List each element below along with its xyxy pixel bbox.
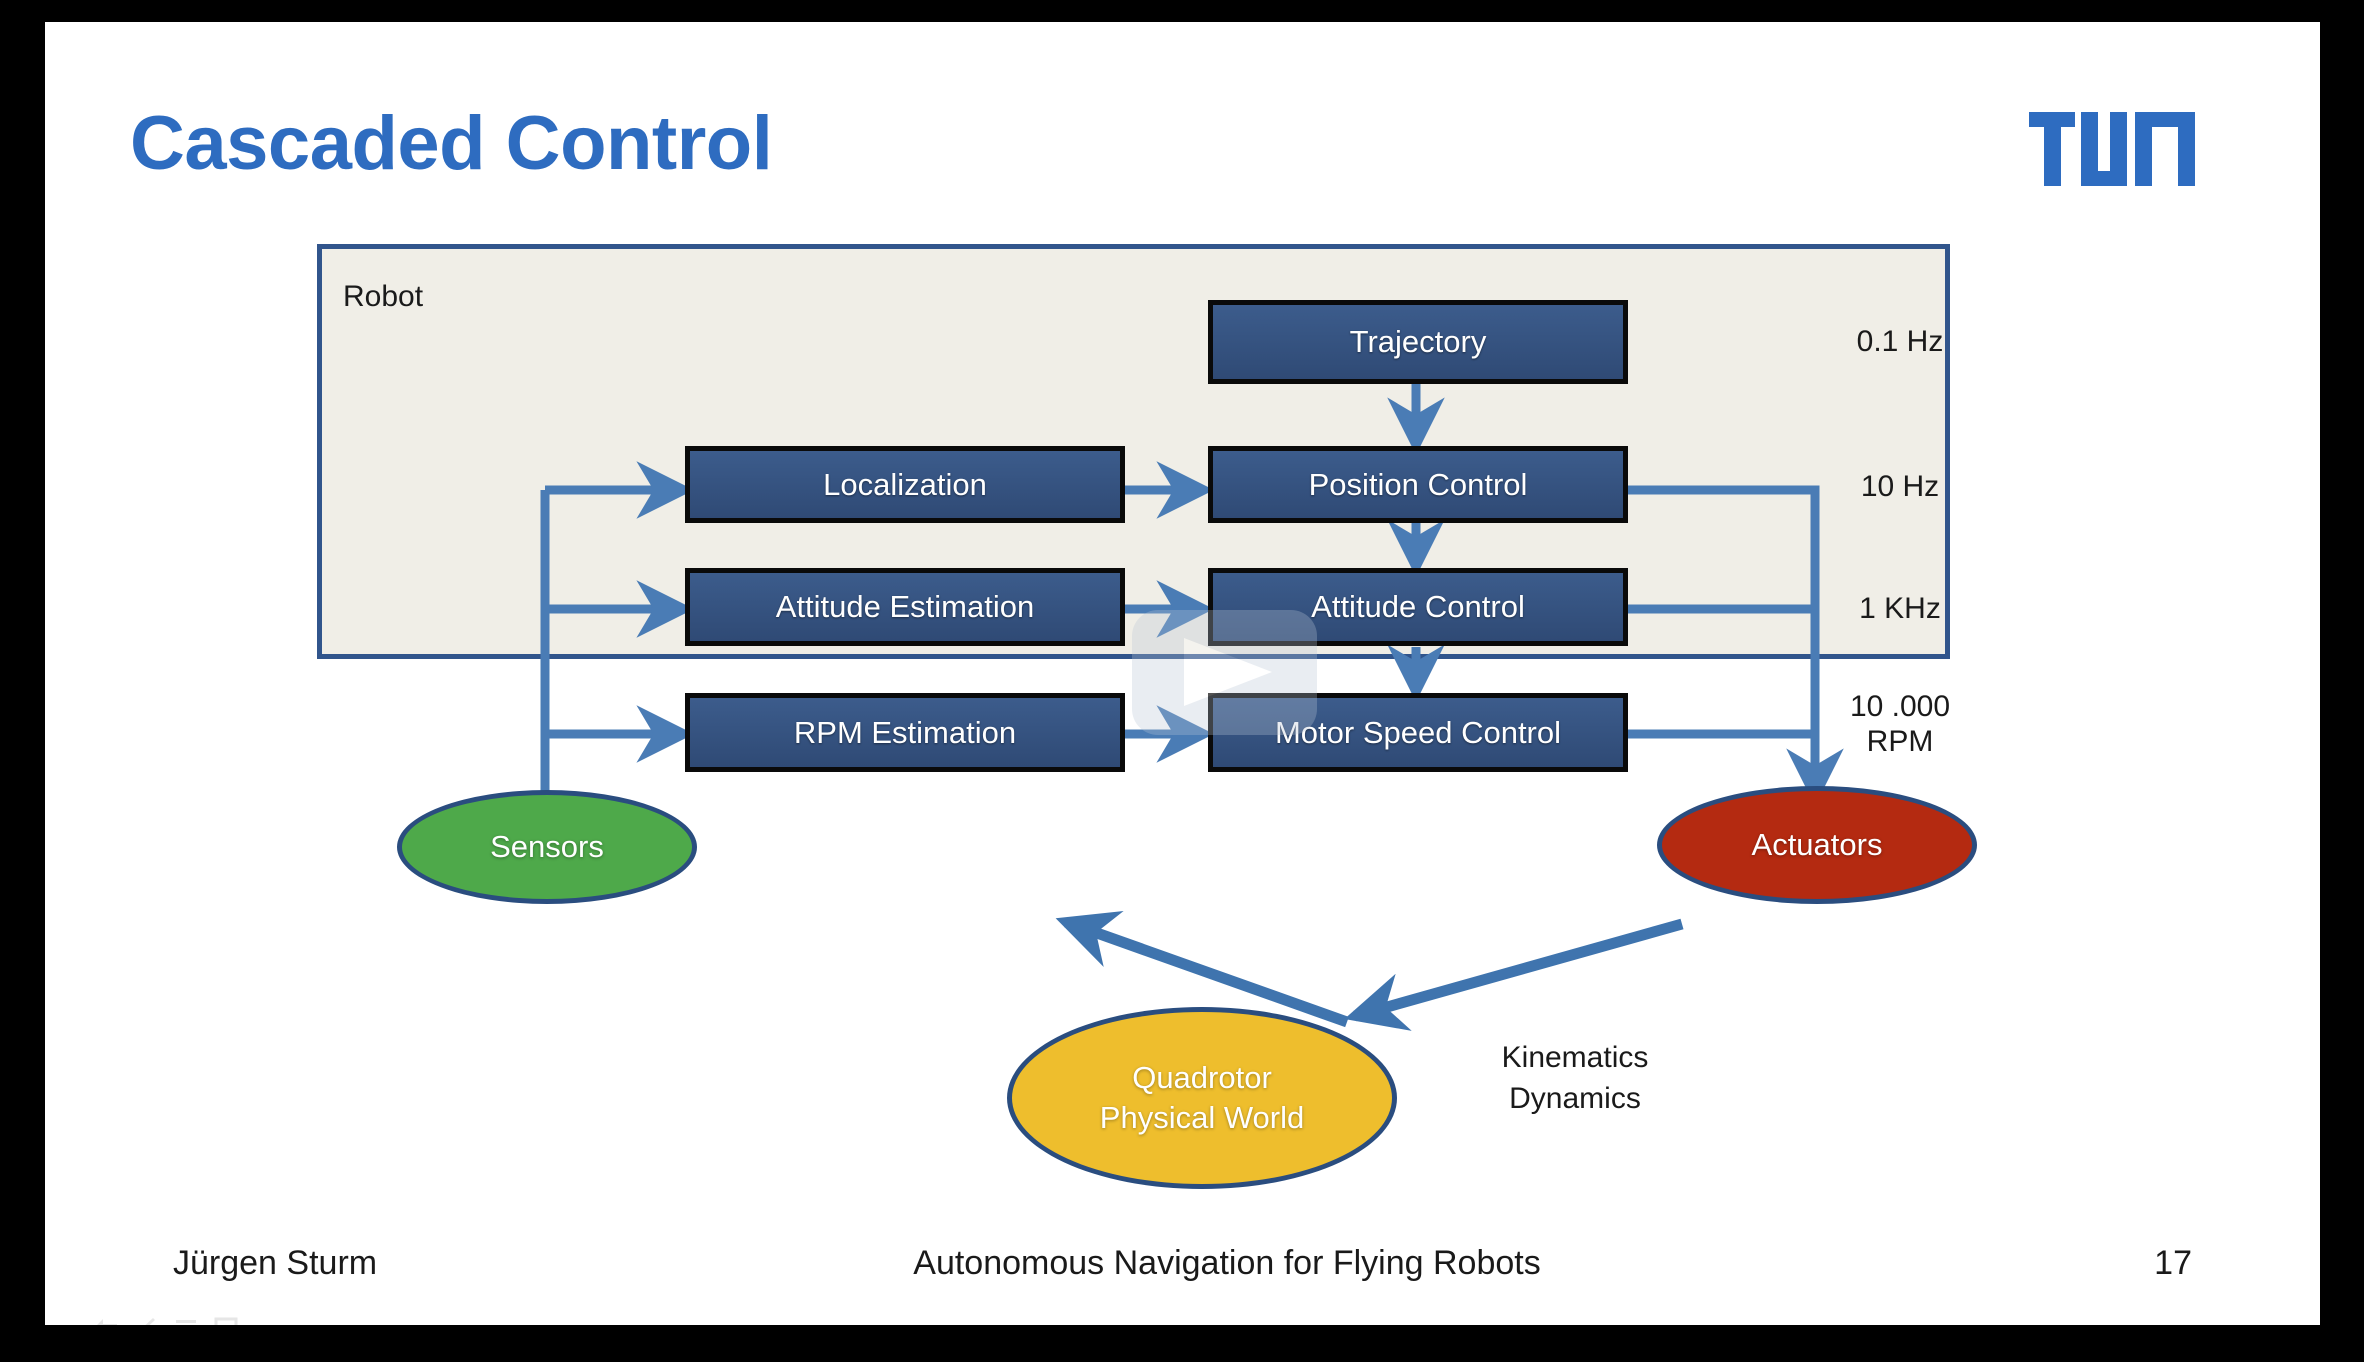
play-button-icon[interactable] — [1132, 610, 1317, 735]
node-quadrotor[interactable]: Quadrotor Physical World — [1007, 1007, 1397, 1189]
block-trajectory[interactable]: Trajectory — [1208, 300, 1628, 384]
slide-canvas: Cascaded Control Robot — [45, 22, 2320, 1325]
pen-icon[interactable] — [133, 1316, 159, 1325]
node-actuators[interactable]: Actuators — [1657, 786, 1977, 904]
block-rpm-estimation[interactable]: RPM Estimation — [685, 693, 1125, 772]
screen: Cascaded Control Robot — [0, 0, 2364, 1362]
annotation-kinematics-dynamics: Kinematics Dynamics — [1425, 1038, 1725, 1119]
block-attitude-estimation[interactable]: Attitude Estimation — [685, 568, 1125, 646]
rate-label-trajectory: 0.1 Hz — [1775, 325, 2025, 360]
block-localization[interactable]: Localization — [685, 446, 1125, 523]
rate-label-motor: 10 .000 RPM — [1775, 690, 2025, 759]
block-position-control[interactable]: Position Control — [1208, 446, 1628, 523]
arrow-actuators-to-world — [1355, 924, 1682, 1016]
node-sensors-label: Sensors — [490, 827, 604, 867]
menu-icon[interactable] — [173, 1316, 199, 1325]
presenter-toolbar[interactable] — [93, 1310, 263, 1325]
slide-view-icon[interactable] — [213, 1316, 239, 1325]
node-quadrotor-label: Quadrotor Physical World — [1100, 1058, 1304, 1137]
robot-container-label: Robot — [343, 280, 423, 314]
robot-container — [317, 244, 1950, 659]
node-actuators-label: Actuators — [1752, 825, 1883, 865]
back-arrow-icon[interactable] — [93, 1316, 119, 1325]
footer-page-number: 17 — [2154, 1244, 2192, 1283]
rate-label-attitude: 1 KHz — [1775, 592, 2025, 627]
rate-label-position: 10 Hz — [1775, 470, 2025, 505]
tum-logo-icon — [2029, 112, 2195, 186]
page-title: Cascaded Control — [130, 100, 772, 187]
node-sensors[interactable]: Sensors — [397, 790, 697, 904]
footer-course-title: Autonomous Navigation for Flying Robots — [45, 1244, 2320, 1283]
